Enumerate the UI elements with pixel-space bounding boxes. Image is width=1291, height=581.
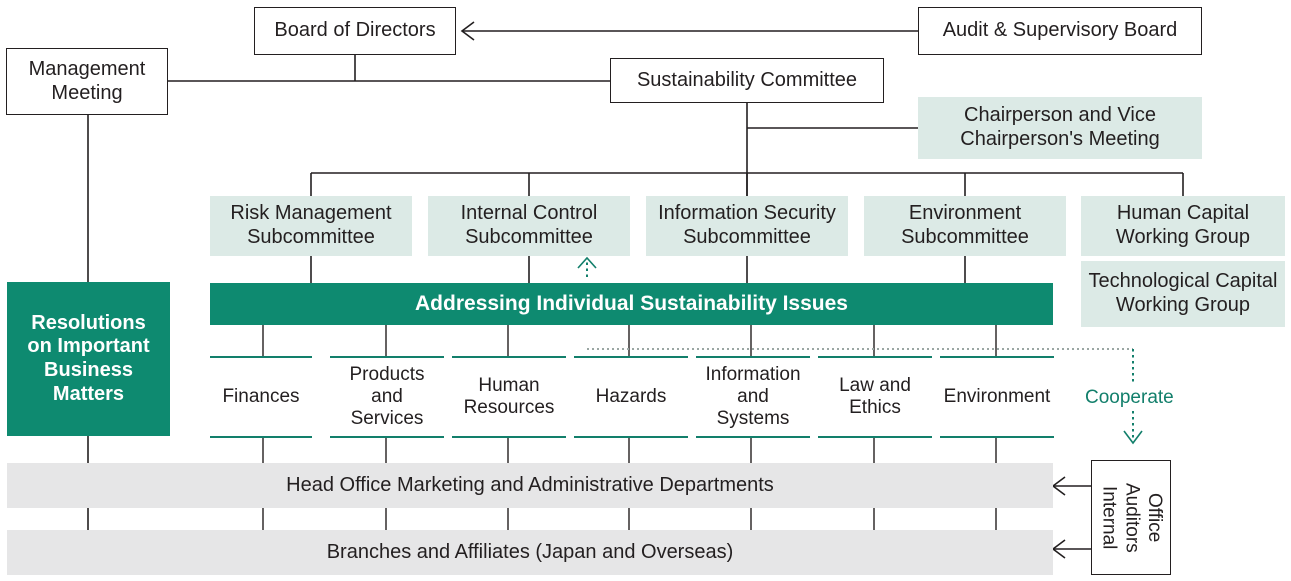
- internal-auditors-office-line1: Internal: [1097, 483, 1120, 553]
- issue-rule-bottom-products-and-services: [330, 436, 444, 438]
- issue-human-resources-line2: Resources: [464, 397, 555, 419]
- working-group-technological-capital-line2: Working Group: [1116, 294, 1250, 318]
- subcommittee-internal-control-line1: Internal Control: [461, 202, 598, 226]
- issue-products-line3: Services: [351, 408, 424, 430]
- issue-rule-bottom-environment: [940, 436, 1054, 438]
- issue-rule-bottom-hazards: [574, 436, 688, 438]
- issue-hazards-line1: Hazards: [596, 386, 667, 408]
- sustainability-committee-label: Sustainability Committee: [637, 69, 857, 93]
- subcommittee-internal-control-line2: Subcommittee: [465, 226, 593, 250]
- internal-auditors-office-line3: Office: [1142, 483, 1165, 553]
- box-management-meeting[interactable]: Management Meeting: [6, 48, 168, 115]
- head-office-bar-label: Head Office Marketing and Administrative…: [286, 474, 774, 498]
- issue-rule-bottom-information-and-systems: [696, 436, 810, 438]
- management-meeting-label-line1: Management: [29, 58, 146, 82]
- cooperate-label: Cooperate: [1085, 387, 1174, 409]
- subcommittee-information-security-line2: Subcommittee: [683, 226, 811, 250]
- resolutions-line3: Business: [44, 359, 133, 383]
- issue-column-products-and-services[interactable]: Products and Services: [330, 358, 444, 436]
- issue-column-law-and-ethics[interactable]: Law and Ethics: [818, 358, 932, 436]
- box-board-of-directors[interactable]: Board of Directors: [254, 7, 456, 55]
- box-resolutions-on-important-business-matters[interactable]: Resolutions on Important Business Matter…: [7, 282, 170, 436]
- issue-products-line1: Products: [350, 364, 425, 386]
- subcommittee-environment-line1: Environment: [909, 202, 1021, 226]
- resolutions-line2: on Important: [27, 335, 149, 359]
- working-group-technological-capital-line1: Technological Capital: [1088, 270, 1277, 294]
- issue-information-line3: Systems: [717, 408, 790, 430]
- governance-org-chart: Board of Directors Audit & Supervisory B…: [0, 0, 1291, 581]
- resolutions-line1: Resolutions: [31, 312, 145, 336]
- box-working-group-human-capital[interactable]: Human Capital Working Group: [1081, 196, 1285, 256]
- issue-column-environment[interactable]: Environment: [940, 358, 1054, 436]
- box-subcommittee-environment[interactable]: Environment Subcommittee: [864, 196, 1066, 256]
- issue-finances-line1: Finances: [222, 386, 299, 408]
- subcommittee-risk-management-line2: Subcommittee: [247, 226, 375, 250]
- subcommittee-environment-line2: Subcommittee: [901, 226, 1029, 250]
- banner-addressing-individual-sustainability-issues[interactable]: Addressing Individual Sustainability Iss…: [210, 283, 1053, 325]
- working-group-human-capital-line1: Human Capital: [1117, 202, 1249, 226]
- green-bar-label: Addressing Individual Sustainability Iss…: [415, 292, 848, 317]
- box-sustainability-committee[interactable]: Sustainability Committee: [610, 58, 884, 103]
- issue-rule-bottom-finances: [210, 436, 312, 438]
- internal-auditors-office-line2: Auditors: [1120, 483, 1143, 553]
- box-working-group-technological-capital[interactable]: Technological Capital Working Group: [1081, 261, 1285, 327]
- issue-rule-bottom-human-resources: [452, 436, 566, 438]
- management-meeting-label-line2: Meeting: [51, 82, 122, 106]
- issue-column-human-resources[interactable]: Human Resources: [452, 358, 566, 436]
- chairperson-meeting-label-line2: Chairperson's Meeting: [960, 128, 1159, 152]
- board-of-directors-label: Board of Directors: [274, 19, 435, 43]
- issue-information-line1: Information: [705, 364, 800, 386]
- box-subcommittee-internal-control[interactable]: Internal Control Subcommittee: [428, 196, 630, 256]
- issue-environment-line1: Environment: [944, 386, 1051, 408]
- subcommittee-risk-management-line1: Risk Management: [230, 202, 391, 226]
- box-subcommittee-risk-management[interactable]: Risk Management Subcommittee: [210, 196, 412, 256]
- issue-information-line2: and: [737, 386, 769, 408]
- box-audit-supervisory-board[interactable]: Audit & Supervisory Board: [918, 7, 1202, 55]
- issue-law-ethics-line1: Law and: [839, 375, 911, 397]
- box-chairperson-vice-chairperson-meeting[interactable]: Chairperson and Vice Chairperson's Meeti…: [918, 97, 1202, 159]
- chairperson-meeting-label-line1: Chairperson and Vice: [964, 104, 1156, 128]
- issue-law-ethics-line2: Ethics: [849, 397, 901, 419]
- issue-products-line2: and: [371, 386, 403, 408]
- branches-affiliates-bar-label: Branches and Affiliates (Japan and Overs…: [327, 541, 734, 565]
- issue-rule-bottom-law-and-ethics: [818, 436, 932, 438]
- issue-human-resources-line1: Human: [478, 375, 539, 397]
- bar-branches-and-affiliates[interactable]: Branches and Affiliates (Japan and Overs…: [7, 530, 1053, 575]
- resolutions-line4: Matters: [53, 383, 124, 407]
- bar-head-office-marketing-and-administrative-departments[interactable]: Head Office Marketing and Administrative…: [7, 463, 1053, 508]
- working-group-human-capital-line2: Working Group: [1116, 226, 1250, 250]
- issue-column-information-and-systems[interactable]: Information and Systems: [696, 358, 810, 436]
- issue-column-hazards[interactable]: Hazards: [574, 358, 688, 436]
- audit-supervisory-board-label: Audit & Supervisory Board: [943, 19, 1178, 43]
- box-subcommittee-information-security[interactable]: Information Security Subcommittee: [646, 196, 848, 256]
- issue-column-finances[interactable]: Finances: [210, 358, 312, 436]
- box-internal-auditors-office[interactable]: Internal Auditors Office: [1091, 460, 1171, 575]
- subcommittee-information-security-line1: Information Security: [658, 202, 836, 226]
